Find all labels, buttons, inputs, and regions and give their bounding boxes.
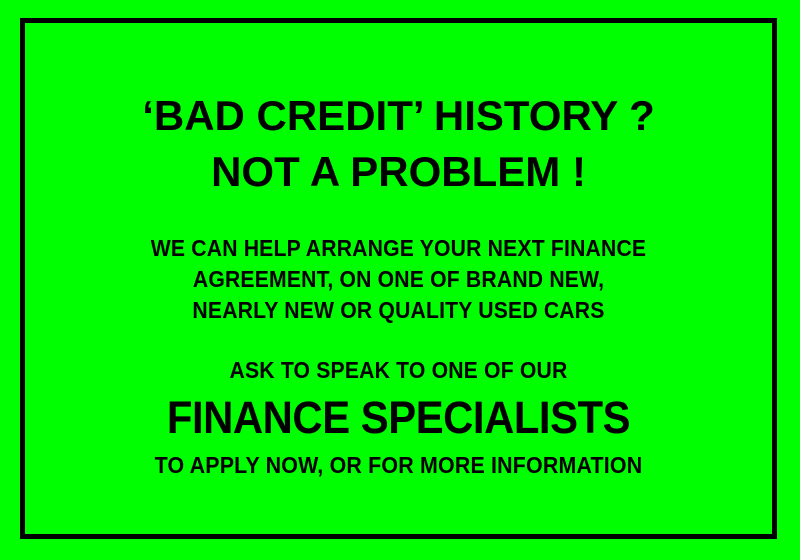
poster-content: ‘BAD CREDIT’ HISTORY ? NOT A PROBLEM ! W…: [25, 23, 772, 534]
advertisement-poster: ‘BAD CREDIT’ HISTORY ? NOT A PROBLEM ! W…: [0, 0, 800, 560]
body-line-1: WE CAN HELP ARRANGE YOUR NEXT FINANCE: [55, 235, 742, 262]
cta-main-heading: FINANCE SPECIALISTS: [51, 392, 746, 444]
headline-line-2: NOT A PROBLEM !: [25, 151, 772, 193]
body-line-2: AGREEMENT, ON ONE OF BRAND NEW,: [55, 266, 742, 293]
cta-intro-line: ASK TO SPEAK TO ONE OF OUR: [55, 357, 742, 384]
headline-line-1: ‘BAD CREDIT’ HISTORY ?: [25, 95, 772, 137]
cta-footer-line: TO APPLY NOW, OR FOR MORE INFORMATION: [51, 452, 746, 479]
body-line-3: NEARLY NEW OR QUALITY USED CARS: [55, 297, 742, 324]
